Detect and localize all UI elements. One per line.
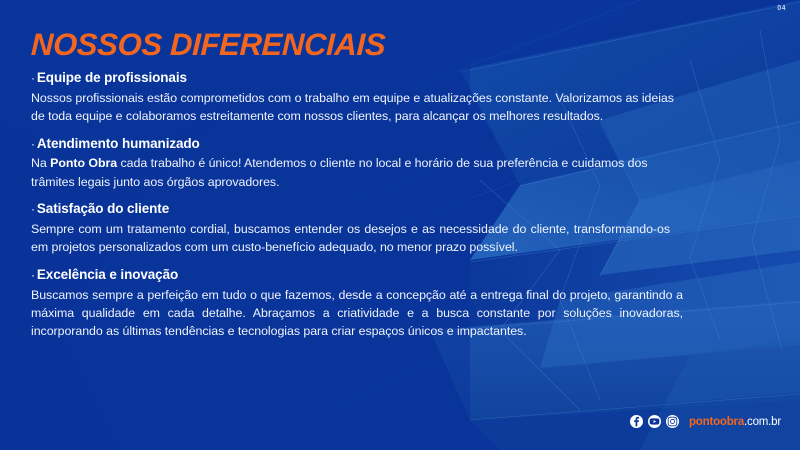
- body-text-before: Buscamos sempre a perfeição em tudo o qu…: [31, 288, 683, 339]
- body-text-before: Na: [31, 156, 50, 170]
- body-text-before: Nossos profissionais estão comprometidos…: [31, 91, 674, 123]
- youtube-icon[interactable]: [648, 415, 661, 428]
- body-text-bold: Ponto Obra: [50, 156, 117, 170]
- footer: pontoobra.com.br: [630, 415, 781, 428]
- section-excelencia-e-inovacao: ·Excelência e inovação Buscamos sempre a…: [31, 267, 684, 341]
- section-body: Na Ponto Obra cada trabalho é único! Ate…: [31, 154, 671, 191]
- bullet-icon: ·: [31, 137, 35, 151]
- section-heading: ·Excelência e inovação: [31, 267, 684, 284]
- website-brand: pontoobra: [689, 416, 744, 428]
- section-atendimento-humanizado: ·Atendimento humanizado Na Ponto Obra ca…: [31, 136, 684, 192]
- section-body: Buscamos sempre a perfeição em tudo o qu…: [31, 286, 683, 341]
- bullet-icon: ·: [31, 202, 35, 216]
- bullet-icon: ·: [31, 71, 35, 85]
- section-body: Sempre com um tratamento cordial, buscam…: [31, 220, 670, 257]
- content-sections: ·Equipe de profissionais Nossos profissi…: [31, 70, 684, 341]
- section-equipe-de-profissionais: ·Equipe de profissionais Nossos profissi…: [31, 70, 684, 126]
- section-heading-label: Satisfação do cliente: [37, 201, 169, 216]
- page-title: NOSSOS DIFERENCIAIS: [30, 27, 386, 63]
- instagram-icon[interactable]: [666, 415, 679, 428]
- body-text-before: Sempre com um tratamento cordial, buscam…: [31, 222, 670, 254]
- website-tld: .com.br: [744, 416, 781, 428]
- facebook-icon[interactable]: [630, 415, 643, 428]
- section-heading: ·Satisfação do cliente: [31, 201, 684, 218]
- section-satisfacao-do-cliente: ·Satisfação do cliente Sempre com um tra…: [31, 201, 684, 257]
- slide: 04 NOSSOS DIFERENCIAIS ·Equipe de profis…: [0, 0, 800, 450]
- bullet-icon: ·: [31, 268, 35, 282]
- section-body: Nossos profissionais estão comprometidos…: [31, 89, 678, 126]
- section-heading-label: Equipe de profissionais: [37, 70, 187, 85]
- section-heading-label: Excelência e inovação: [37, 267, 178, 282]
- section-heading: ·Atendimento humanizado: [31, 136, 684, 153]
- website-url[interactable]: pontoobra.com.br: [689, 416, 781, 428]
- section-heading: ·Equipe de profissionais: [31, 70, 684, 87]
- page-number: 04: [777, 5, 786, 12]
- body-text-after: cada trabalho é único! Atendemos o clien…: [31, 156, 648, 188]
- section-heading-label: Atendimento humanizado: [37, 136, 200, 151]
